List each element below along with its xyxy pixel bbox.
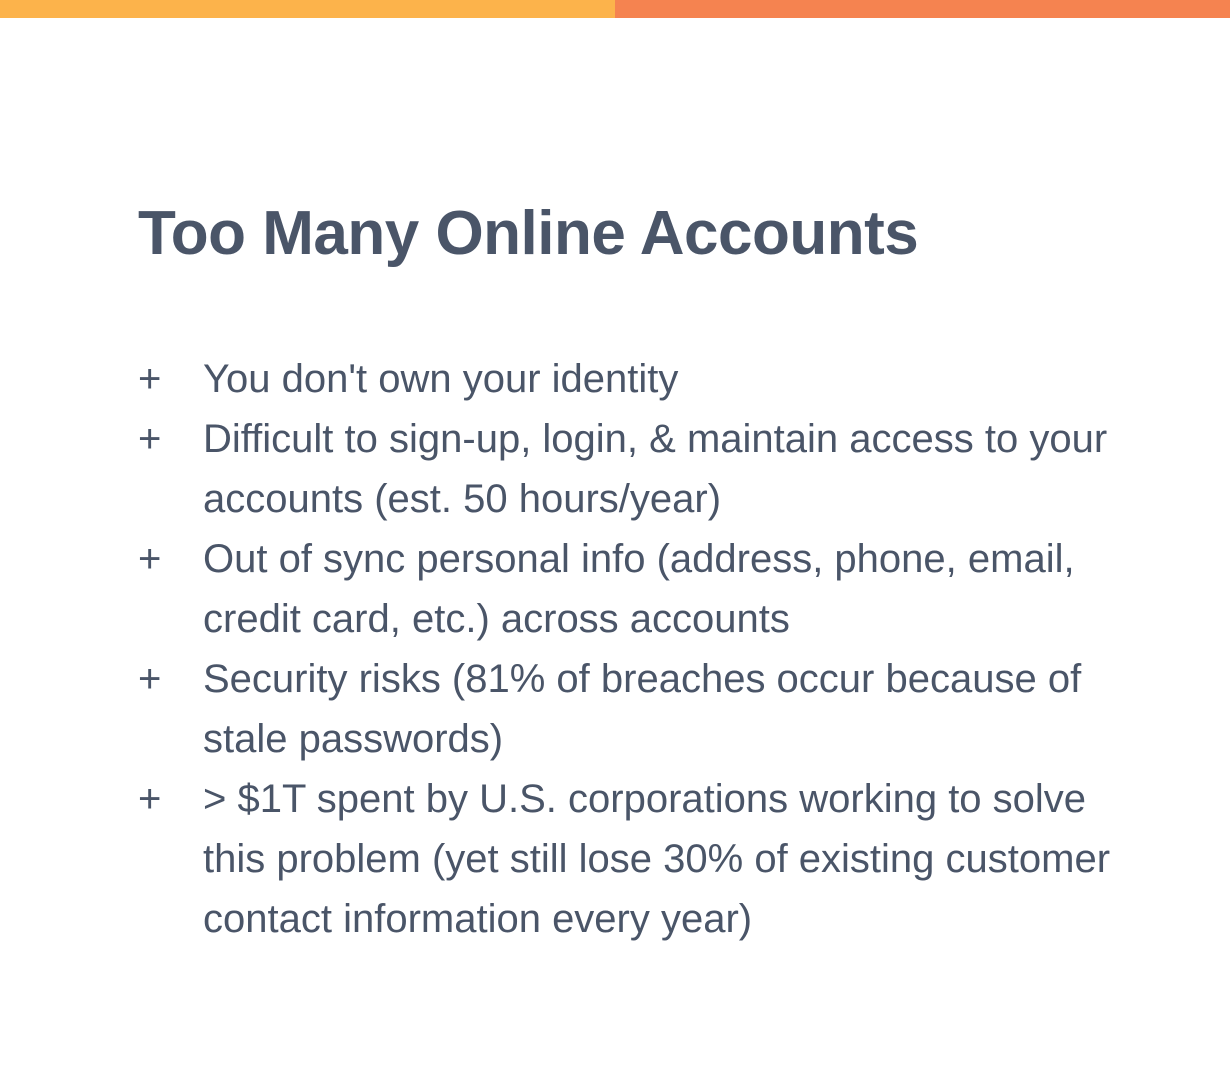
slide-content: Too Many Online Accounts + You don't own… <box>0 0 1230 1082</box>
list-item: + Difficult to sign-up, login, & maintai… <box>138 409 1148 529</box>
plus-icon: + <box>138 649 203 709</box>
plus-icon: + <box>138 529 203 589</box>
plus-icon: + <box>138 349 203 409</box>
list-item: + Out of sync personal info (address, ph… <box>138 529 1148 649</box>
bullet-list: + You don't own your identity + Difficul… <box>138 349 1148 949</box>
list-item: + > $1T spent by U.S. corporations worki… <box>138 769 1148 949</box>
list-item-text: Security risks (81% of breaches occur be… <box>203 649 1148 769</box>
list-item-text: You don't own your identity <box>203 349 1148 409</box>
list-item-text: > $1T spent by U.S. corporations working… <box>203 769 1148 949</box>
list-item-text: Difficult to sign-up, login, & maintain … <box>203 409 1148 529</box>
list-item: + You don't own your identity <box>138 349 1148 409</box>
plus-icon: + <box>138 769 203 829</box>
plus-icon: + <box>138 409 203 469</box>
page-title: Too Many Online Accounts <box>138 196 1138 272</box>
list-item-text: Out of sync personal info (address, phon… <box>203 529 1148 649</box>
list-item: + Security risks (81% of breaches occur … <box>138 649 1148 769</box>
